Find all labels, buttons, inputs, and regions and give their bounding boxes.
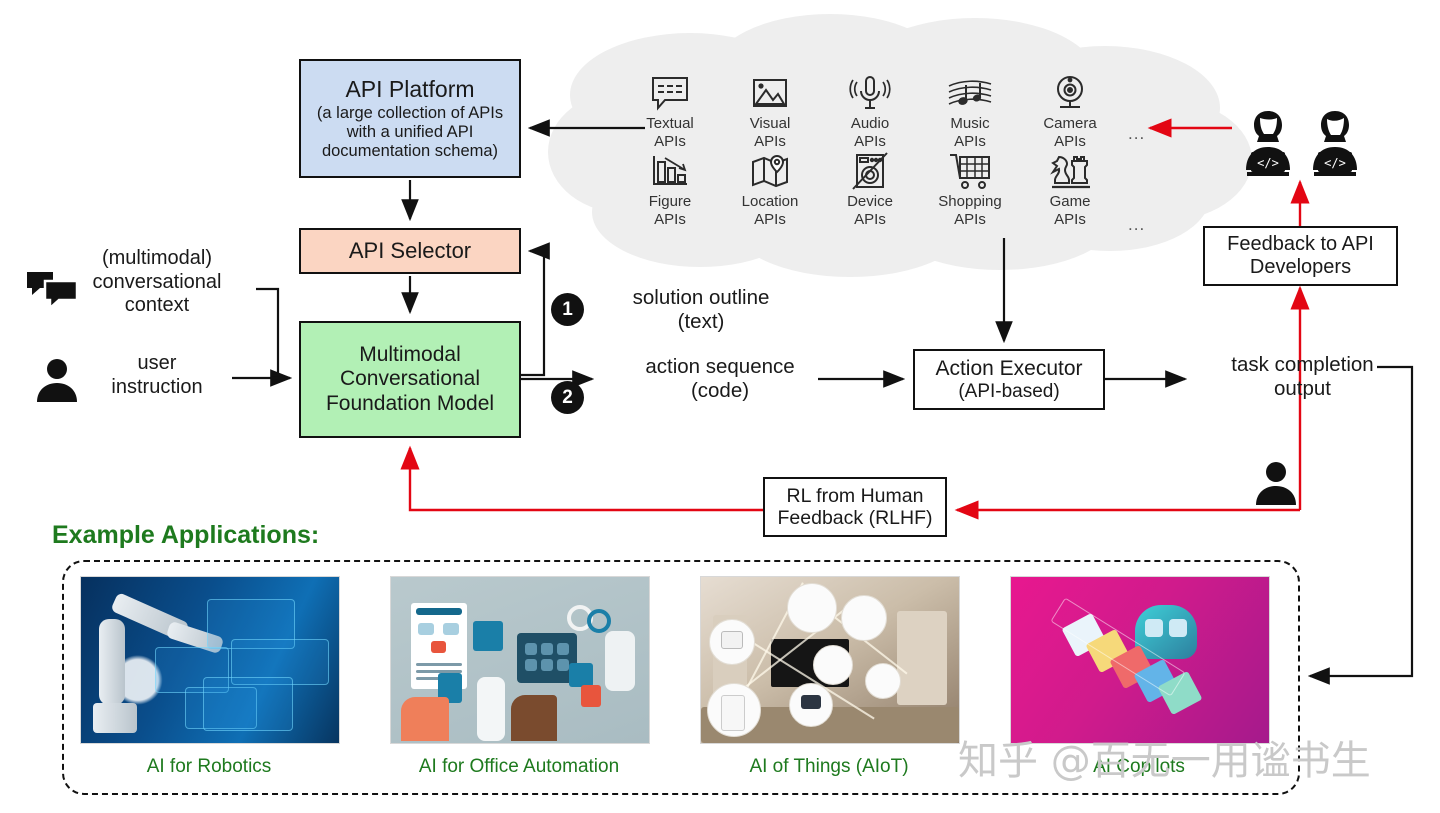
task-completion-output-label: task completion output <box>1190 353 1415 401</box>
textual-api-icon <box>649 72 691 115</box>
application-card-aiot[interactable]: AI of Things (AIoT) <box>700 576 958 778</box>
api-label-audio-2: APIs <box>854 134 886 151</box>
api-platform-subtitle-2: with a unified API <box>347 123 474 142</box>
api-ellipsis-row-1: ... <box>1128 124 1145 144</box>
context-line-2: conversational <box>57 271 257 295</box>
diagram-canvas: API Platform (a large collection of APIs… <box>0 0 1440 813</box>
device-api-icon <box>849 150 891 193</box>
camera-api-icon <box>1049 72 1091 115</box>
api-label-visual-2: APIs <box>754 134 786 151</box>
context-line-3: context <box>57 294 257 318</box>
feedback-line-1: Feedback to API <box>1227 233 1374 256</box>
api-platform-title: API Platform <box>345 76 474 102</box>
api-label-music-1: Music <box>950 116 989 133</box>
figure-api-icon <box>649 150 691 193</box>
solution-outline-line-2: (text) <box>586 310 816 334</box>
api-ellipsis-row-2: ... <box>1128 215 1145 235</box>
action-sequence-label: action sequence (code) <box>600 355 840 403</box>
action-executor-subtitle: (API-based) <box>958 381 1059 403</box>
copilots-thumbnail <box>1010 576 1270 744</box>
task-output-line-2: output <box>1190 377 1415 401</box>
api-developer-male-icon: </> <box>1305 108 1365 183</box>
location-api-icon <box>749 150 791 193</box>
api-label-device-2: APIs <box>854 212 886 229</box>
api-selector-title: API Selector <box>349 238 471 263</box>
solution-outline-label: solution outline (text) <box>586 286 816 334</box>
api-label-audio-1: Audio <box>851 116 889 133</box>
api-label-game-2: APIs <box>1054 212 1086 229</box>
api-label-textual-1: Textual <box>646 116 694 133</box>
svg-text:</>: </> <box>1257 156 1279 170</box>
api-label-location-2: APIs <box>754 212 786 229</box>
api-label-textual-2: APIs <box>654 134 686 151</box>
api-item-device[interactable]: Device APIs <box>820 150 920 228</box>
task-output-line-1: task completion <box>1190 353 1415 377</box>
arrow-task-output-to-applications <box>1310 367 1412 676</box>
api-label-camera-1: Camera <box>1043 116 1096 133</box>
foundation-model-line-2: Conversational <box>340 367 480 391</box>
api-label-figure-1: Figure <box>649 194 692 211</box>
api-label-device-1: Device <box>847 194 893 211</box>
api-platform-subtitle-1: (a large collection of APIs <box>317 104 503 123</box>
api-label-game-1: Game <box>1050 194 1091 211</box>
conversation-bubbles-icon <box>25 270 81 315</box>
feedback-to-developers-box[interactable]: Feedback to API Developers <box>1203 226 1398 286</box>
application-caption-robotics: AI for Robotics <box>80 756 338 778</box>
rlhf-line-2: Feedback (RLHF) <box>778 507 933 529</box>
foundation-model-line-1: Multimodal <box>359 343 461 367</box>
feedback-line-2: Developers <box>1250 256 1351 279</box>
user-instruction-label: user instruction <box>82 352 232 399</box>
api-label-camera-2: APIs <box>1054 134 1086 151</box>
api-item-game[interactable]: Game APIs <box>1020 150 1120 228</box>
shopping-api-icon <box>948 150 992 193</box>
application-card-office[interactable]: AI for Office Automation <box>390 576 648 778</box>
api-label-music-2: APIs <box>954 134 986 151</box>
solution-outline-line-1: solution outline <box>586 286 816 310</box>
application-caption-office: AI for Office Automation <box>390 756 648 778</box>
api-developer-female-icon: </> <box>1238 108 1298 183</box>
api-label-figure-2: APIs <box>654 212 686 229</box>
user-avatar-icon <box>33 356 81 409</box>
foundation-model-box[interactable]: Multimodal Conversational Foundation Mod… <box>299 321 521 438</box>
api-platform-subtitle-3: documentation schema) <box>322 142 498 161</box>
action-executor-title: Action Executor <box>935 357 1082 381</box>
office-automation-thumbnail <box>390 576 650 744</box>
application-caption-aiot: AI of Things (AIoT) <box>700 756 958 778</box>
user-instruction-line-1: user <box>82 352 232 376</box>
api-item-figure[interactable]: Figure APIs <box>620 150 720 228</box>
zhihu-watermark: 知乎 @百无一用谧书生 <box>958 728 1371 786</box>
user-instruction-line-2: instruction <box>82 376 232 400</box>
context-line-1: (multimodal) <box>57 247 257 271</box>
api-label-shopping-2: APIs <box>954 212 986 229</box>
api-item-music[interactable]: Music APIs <box>920 72 1020 150</box>
aiot-thumbnail <box>700 576 960 744</box>
api-item-textual[interactable]: Textual APIs <box>620 72 720 150</box>
music-api-icon <box>946 72 994 115</box>
api-item-audio[interactable]: Audio APIs <box>820 72 920 150</box>
action-sequence-line-1: action sequence <box>600 355 840 379</box>
api-label-shopping-1: Shopping <box>938 194 1001 211</box>
api-cloud-grid: Textual APIs Visual APIs <box>620 72 1120 252</box>
example-applications-heading: Example Applications: <box>52 521 319 550</box>
arrow-rlhf-to-model <box>410 448 763 510</box>
api-selector-box[interactable]: API Selector <box>299 228 521 274</box>
action-sequence-line-2: (code) <box>600 379 840 403</box>
foundation-model-line-3: Foundation Model <box>326 392 494 416</box>
step-badge-1: 1 <box>551 293 584 326</box>
rlhf-line-1: RL from Human <box>787 485 924 507</box>
visual-api-icon <box>749 72 791 115</box>
api-item-shopping[interactable]: Shopping APIs <box>920 150 1020 228</box>
arrow-model-to-selector-loop <box>521 251 544 375</box>
human-annotator-icon <box>1252 459 1300 512</box>
api-item-location[interactable]: Location APIs <box>720 150 820 228</box>
api-platform-box[interactable]: API Platform (a large collection of APIs… <box>299 59 521 178</box>
arrow-context-to-model <box>256 289 290 378</box>
game-api-icon <box>1047 150 1093 193</box>
application-card-robotics[interactable]: AI for Robotics <box>80 576 338 778</box>
step-badge-2: 2 <box>551 381 584 414</box>
conversational-context-label: (multimodal) conversational context <box>57 247 257 318</box>
rlhf-box[interactable]: RL from Human Feedback (RLHF) <box>763 477 947 537</box>
svg-text:</>: </> <box>1324 156 1346 170</box>
audio-api-icon <box>848 72 892 115</box>
action-executor-box[interactable]: Action Executor (API-based) <box>913 349 1105 410</box>
api-label-location-1: Location <box>742 194 799 211</box>
api-item-visual[interactable]: Visual APIs <box>720 72 820 150</box>
api-item-camera[interactable]: Camera APIs <box>1020 72 1120 150</box>
robotics-thumbnail <box>80 576 340 744</box>
api-label-visual-1: Visual <box>750 116 791 133</box>
